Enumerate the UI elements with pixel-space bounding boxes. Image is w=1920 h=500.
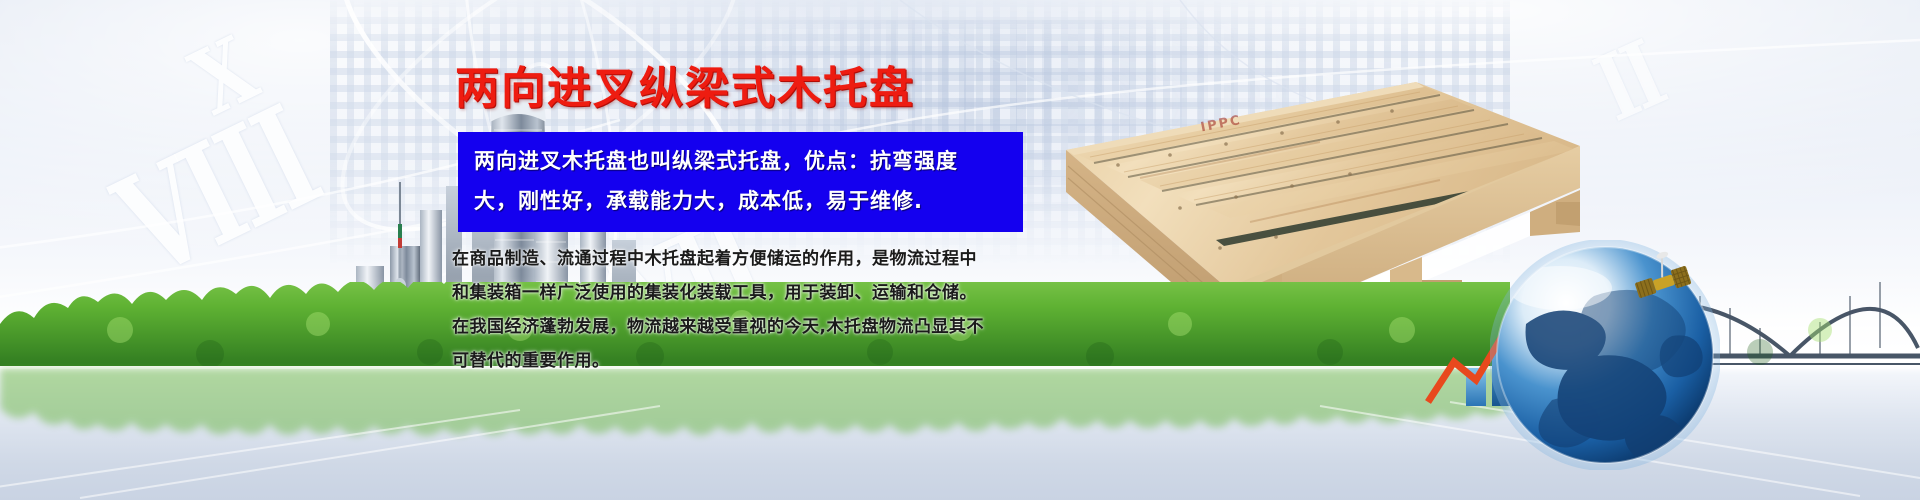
- highlight-line-1: 两向进叉木托盘也叫纵梁式托盘，优点：抗弯强度: [474, 141, 1007, 181]
- product-banner: X VIII VII XI II: [0, 0, 1920, 500]
- highlight-callout-box: 两向进叉木托盘也叫纵梁式托盘，优点：抗弯强度 大，刚性好，承载能力大，成本低，易…: [458, 132, 1023, 232]
- highlight-line-2: 大，刚性好，承载能力大，成本低，易于维修.: [474, 181, 1007, 221]
- body-line-3: 在我国经济蓬勃发展，物流越来越受重视的今天,木托盘物流凸显其不: [452, 310, 1052, 344]
- body-line-4: 可替代的重要作用。: [452, 344, 1052, 378]
- body-line-1: 在商品制造、流通过程中木托盘起着方便储运的作用，是物流过程中: [452, 242, 1052, 276]
- body-line-2: 和集装箱一样广泛使用的集装化装载工具，用于装卸、运输和仓储。: [452, 276, 1052, 310]
- description-paragraph: 在商品制造、流通过程中木托盘起着方便储运的作用，是物流过程中 和集装箱一样广泛使…: [452, 242, 1052, 378]
- earth-globe-graphic: [1490, 240, 1720, 470]
- page-title: 两向进叉纵梁式木托盘: [455, 52, 915, 116]
